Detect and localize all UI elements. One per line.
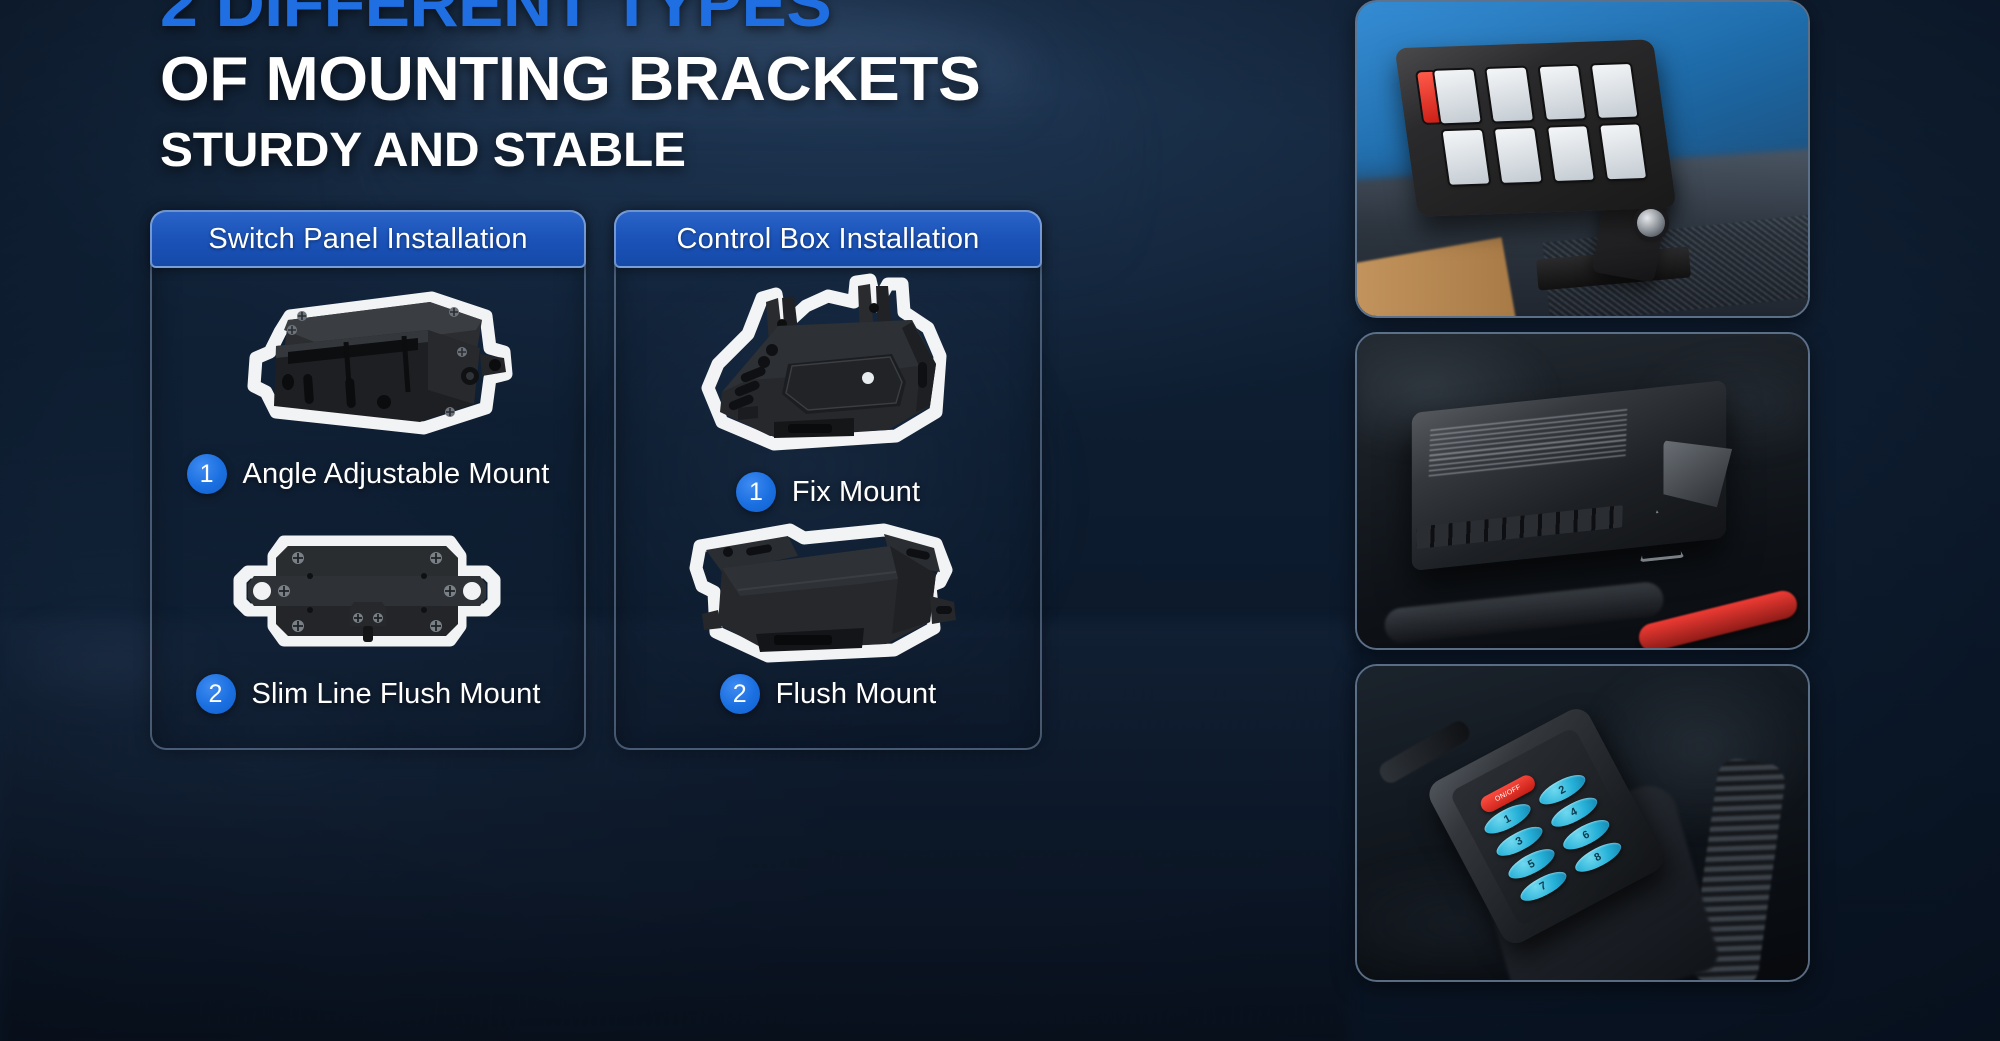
item-number-badge: 1 [736,472,776,512]
slim-line-flush-mount-icon [218,522,518,667]
product-fix-mount: 1 Fix Mount [616,276,1040,506]
heading-line-2: OF MOUNTING BRACKETS [160,49,980,111]
panel-body: 1 Fix Mount [616,270,1040,748]
heading-line-1: 2 DIFFERENT TYPES [160,0,980,35]
photo1-key [1600,125,1646,179]
photo1-pivot-knob [1637,209,1665,237]
panel-title: Switch Panel Installation [208,223,527,256]
angle-adjustable-mount-icon [218,280,518,450]
panel-header-switch-panel: Switch Panel Installation [150,210,586,268]
panel-body: 1 Angle Adjustable Mount [152,270,584,748]
photo1-key [1547,126,1593,180]
photo1-key [1442,130,1488,184]
item-label: Angle Adjustable Mount [243,458,550,491]
photo1-switch-panel [1394,39,1676,216]
caption-angle-adjustable-mount: 1 Angle Adjustable Mount [152,454,584,494]
heading-block: 2 DIFFERENT TYPES OF MOUNTING BRACKETS S… [160,0,957,175]
photo1-key [1486,67,1532,121]
item-label: Flush Mount [776,678,937,711]
flush-mount-icon [678,516,978,681]
photo-control-box-in-engine-bay [1355,332,1810,650]
photo1-switch-keys [1434,64,1646,185]
photo-switch-panel-on-dash-angle-mount [1355,0,1810,318]
caption-slim-line-flush-mount: 2 Slim Line Flush Mount [152,674,584,714]
caption-flush-mount: 2 Flush Mount [616,674,1040,714]
fix-mount-icon [678,272,978,467]
photo-gloved-hand-holding-remote: ON/OFF 1 2 3 4 5 6 7 8 [1355,664,1810,982]
item-number-badge: 2 [196,674,236,714]
panel-switch-panel-installation: Switch Panel Installation [150,210,586,750]
panel-control-box-installation: Control Box Installation [614,210,1042,750]
photo1-key [1539,65,1585,119]
heading-line-3: STURDY AND STABLE [160,127,980,175]
photo1-key [1495,128,1541,182]
panel-title: Control Box Installation [676,223,979,256]
item-label: Fix Mount [792,476,920,509]
photo1-key [1434,69,1480,123]
panels-container: Switch Panel Installation [150,210,1042,750]
item-number-badge: 2 [720,674,760,714]
panel-header-control-box: Control Box Installation [614,210,1042,268]
product-slim-line-flush-mount: 2 Slim Line Flush Mount [152,522,584,748]
photo-strip: ON/OFF 1 2 3 4 5 6 7 8 [1355,0,1810,982]
item-number-badge: 1 [187,454,227,494]
photo1-key [1591,64,1637,118]
product-flush-mount: 2 Flush Mount [616,522,1040,748]
item-label: Slim Line Flush Mount [252,678,541,711]
caption-fix-mount: 1 Fix Mount [616,472,1040,512]
product-angle-adjustable-mount: 1 Angle Adjustable Mount [152,276,584,506]
